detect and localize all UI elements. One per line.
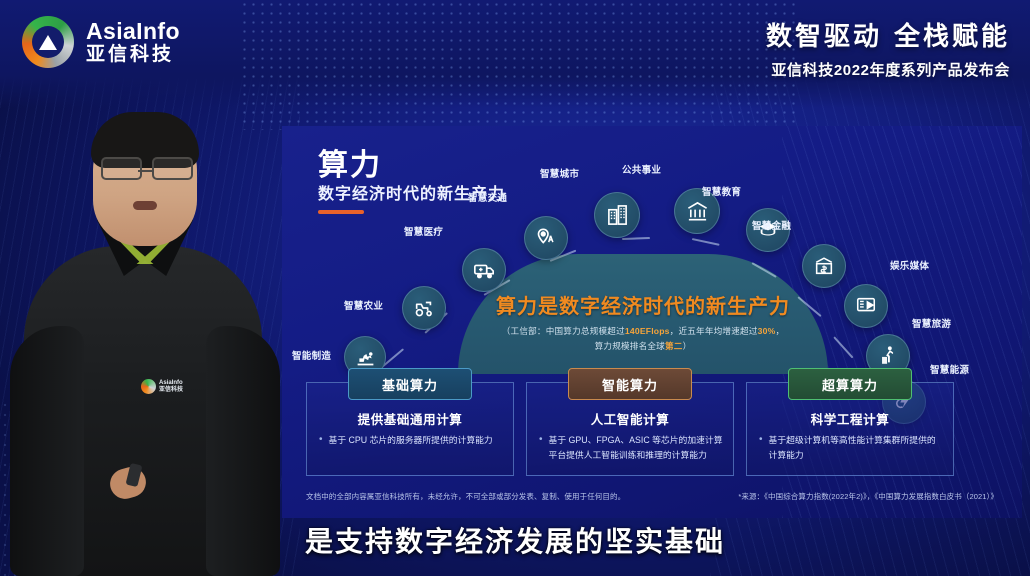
event-banner: 数智驱动 全栈赋能 亚信科技2022年度系列产品发布会 <box>766 16 1010 80</box>
node-link <box>692 238 720 246</box>
dome-note-prefix: （工信部：中国算力总规模超过 <box>502 326 625 336</box>
bullet-icon: • <box>759 433 763 462</box>
card-body: • 基于超级计算机等高性能计算集群所提供的计算能力 <box>759 433 943 462</box>
node-label-智慧金融: 智慧金融 <box>752 218 791 232</box>
subtitle-caption: 是支持数字经济发展的坚实基础 <box>0 520 1030 560</box>
title-accent-rule <box>318 210 364 214</box>
presenter-shirt-logo: AsiaInfo 亚信科技 <box>141 379 183 394</box>
card-tab-label: 智能算力 <box>568 368 692 400</box>
bullet-icon: • <box>539 433 543 462</box>
card-body-text: 基于超级计算机等高性能计算集群所提供的计算能力 <box>769 433 943 462</box>
node-label-智慧教育: 智慧教育 <box>702 184 741 198</box>
decorative-dot-grid-top <box>240 0 800 130</box>
node-label-智慧旅游: 智慧旅游 <box>912 316 951 330</box>
card-超算算力[interactable]: 超算算力 科学工程计算 • 基于超级计算机等高性能计算集群所提供的计算能力 <box>746 382 954 476</box>
card-tab-label: 超算算力 <box>788 368 912 400</box>
dome-note-tail: 算力规模排名全球 <box>595 341 665 351</box>
card-heading: 人工智能计算 <box>527 409 733 428</box>
brand-name-en: AsiaInfo <box>86 19 180 43</box>
slide-title: 算力 <box>318 140 382 184</box>
dome-stat-growth-rate: 30% <box>758 326 776 336</box>
shirt-logo-en: AsiaInfo <box>159 380 183 387</box>
shirt-logo-icon <box>141 379 156 394</box>
slide-footnote: 文档中的全部内容属亚信科技所有，未经允许，不可全部或部分发表、复制、使用于任何目… <box>306 491 625 502</box>
ambulance-icon <box>473 259 495 281</box>
bank-icon <box>686 200 709 223</box>
node-label-智慧交通: 智慧交通 <box>468 190 507 204</box>
bank-money-icon <box>813 255 835 277</box>
card-body-text: 基于 CPU 芯片的服务器所提供的计算能力 <box>329 433 493 448</box>
presenter-glasses-right <box>152 157 193 180</box>
node-label-智慧医疗: 智慧医疗 <box>404 224 443 238</box>
event-name: 亚信科技2022年度系列产品发布会 <box>766 59 1010 80</box>
dome-note-mid: ，近五年年均增速超过 <box>670 326 758 336</box>
bullet-icon: • <box>319 433 323 448</box>
card-智能算力[interactable]: 智能算力 人工智能计算 • 基于 GPU、FPGA、ASIC 等芯片的加速计算平… <box>526 382 734 476</box>
dome-note: （工信部：中国算力总规模超过140EFlops，近五年年均增速超过30%， 算力… <box>472 324 814 354</box>
dome-shape: 算力是数字经济时代的新生产力 （工信部：中国算力总规模超过140EFlops，近… <box>458 254 828 374</box>
traveler-icon <box>877 345 899 367</box>
node-label-娱乐媒体: 娱乐媒体 <box>890 258 929 272</box>
video-frame: AsiaInfo 亚信科技 数智驱动 全栈赋能 亚信科技2022年度系列产品发布… <box>0 0 1030 576</box>
dome-stat-rank: 第二 <box>665 341 683 351</box>
dome-note-close: ） <box>683 341 692 351</box>
card-body-text: 基于 GPU、FPGA、ASIC 等芯片的加速计算平台提供人工智能训练和推理的计… <box>549 433 723 462</box>
card-heading: 科学工程计算 <box>747 409 953 428</box>
robot-arm-icon <box>355 347 376 368</box>
presenter-glasses-bridge <box>138 170 152 172</box>
slide-source-note: *来源：《中国综合算力指数(2022年2)》，《中国算力发展指数白皮书（2021… <box>738 491 998 502</box>
card-heading: 提供基础通用计算 <box>307 409 513 428</box>
card-body: • 基于 CPU 芯片的服务器所提供的计算能力 <box>319 433 503 448</box>
event-slogan: 数智驱动 全栈赋能 <box>766 16 1010 53</box>
presenter-glasses-left <box>101 157 142 180</box>
dome-headline: 算力是数字经济时代的新生产力 <box>458 290 828 319</box>
card-body: • 基于 GPU、FPGA、ASIC 等芯片的加速计算平台提供人工智能训练和推理… <box>539 433 723 462</box>
node-智慧医疗[interactable] <box>462 248 506 292</box>
dome-stat-compute-scale: 140EFlops <box>625 326 670 336</box>
node-娱乐媒体[interactable] <box>844 284 888 328</box>
node-label-公共事业: 公共事业 <box>622 162 661 176</box>
node-label-智慧能源: 智慧能源 <box>930 362 969 376</box>
card-基础算力[interactable]: 基础算力 提供基础通用计算 • 基于 CPU 芯片的服务器所提供的计算能力 <box>306 382 514 476</box>
node-智慧城市[interactable] <box>594 192 640 238</box>
node-link <box>622 237 650 240</box>
map-pin-icon <box>535 227 557 249</box>
presentation-slide: 算力 数字经济时代的新生产力 算力是数字经济时代的新生产力 （工信部：中国算力总… <box>282 126 1022 518</box>
node-label-智慧农业: 智慧农业 <box>344 298 383 312</box>
node-智慧农业[interactable] <box>402 286 446 330</box>
card-tab-label: 基础算力 <box>348 368 472 400</box>
shirt-logo-cn: 亚信科技 <box>159 387 183 394</box>
media-play-icon <box>855 295 877 317</box>
presenter-video: AsiaInfo 亚信科技 <box>10 56 280 576</box>
node-智慧金融[interactable] <box>802 244 846 288</box>
node-智慧交通[interactable] <box>524 216 568 260</box>
dome-note-mid-2: ， <box>775 326 784 336</box>
node-label-智慧城市: 智慧城市 <box>540 166 579 180</box>
tractor-icon <box>413 297 435 319</box>
node-label-智能制造: 智能制造 <box>292 348 331 362</box>
presenter-mouth <box>133 201 157 210</box>
city-building-icon <box>606 204 629 227</box>
